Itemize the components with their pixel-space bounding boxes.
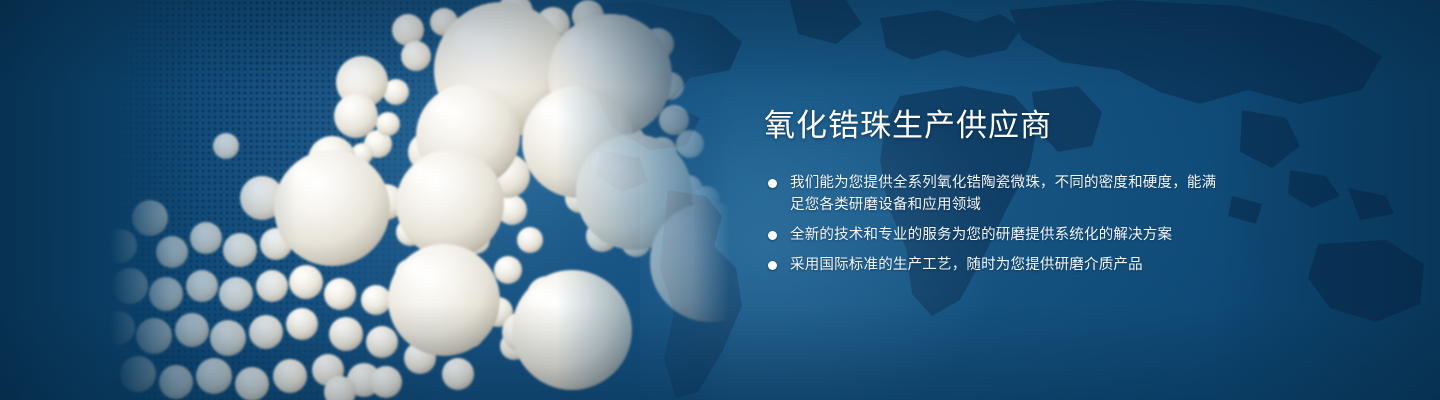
bullet-dot-icon [768,231,777,240]
banner-copy: 氧化锆珠生产供应商 我们能为您提供全系列氧化锆陶瓷微珠，不同的密度和硬度，能满足… [764,106,1384,276]
list-item: 全新的技术和专业的服务为您的研磨提供系统化的解决方案 [764,224,1220,246]
page-title: 氧化锆珠生产供应商 [764,106,1384,146]
bullet-dot-icon [768,261,777,270]
zirconia-beads-photo [110,0,730,400]
list-item: 我们能为您提供全系列氧化锆陶瓷微珠，不同的密度和硬度，能满足您各类研磨设备和应用… [764,172,1220,216]
bullet-dot-icon [768,179,777,188]
bead-cluster [110,0,730,400]
list-item: 采用国际标准的生产工艺，随时为您提供研磨介质产品 [764,254,1220,276]
list-item-label: 我们能为您提供全系列氧化锆陶瓷微珠，不同的密度和硬度，能满足您各类研磨设备和应用… [790,172,1220,216]
list-item-label: 采用国际标准的生产工艺，随时为您提供研磨介质产品 [790,254,1220,276]
feature-list: 我们能为您提供全系列氧化锆陶瓷微珠，不同的密度和硬度，能满足您各类研磨设备和应用… [764,172,1384,276]
hero-banner: 氧化锆珠生产供应商 我们能为您提供全系列氧化锆陶瓷微珠，不同的密度和硬度，能满足… [0,0,1440,400]
list-item-label: 全新的技术和专业的服务为您的研磨提供系统化的解决方案 [790,224,1220,246]
